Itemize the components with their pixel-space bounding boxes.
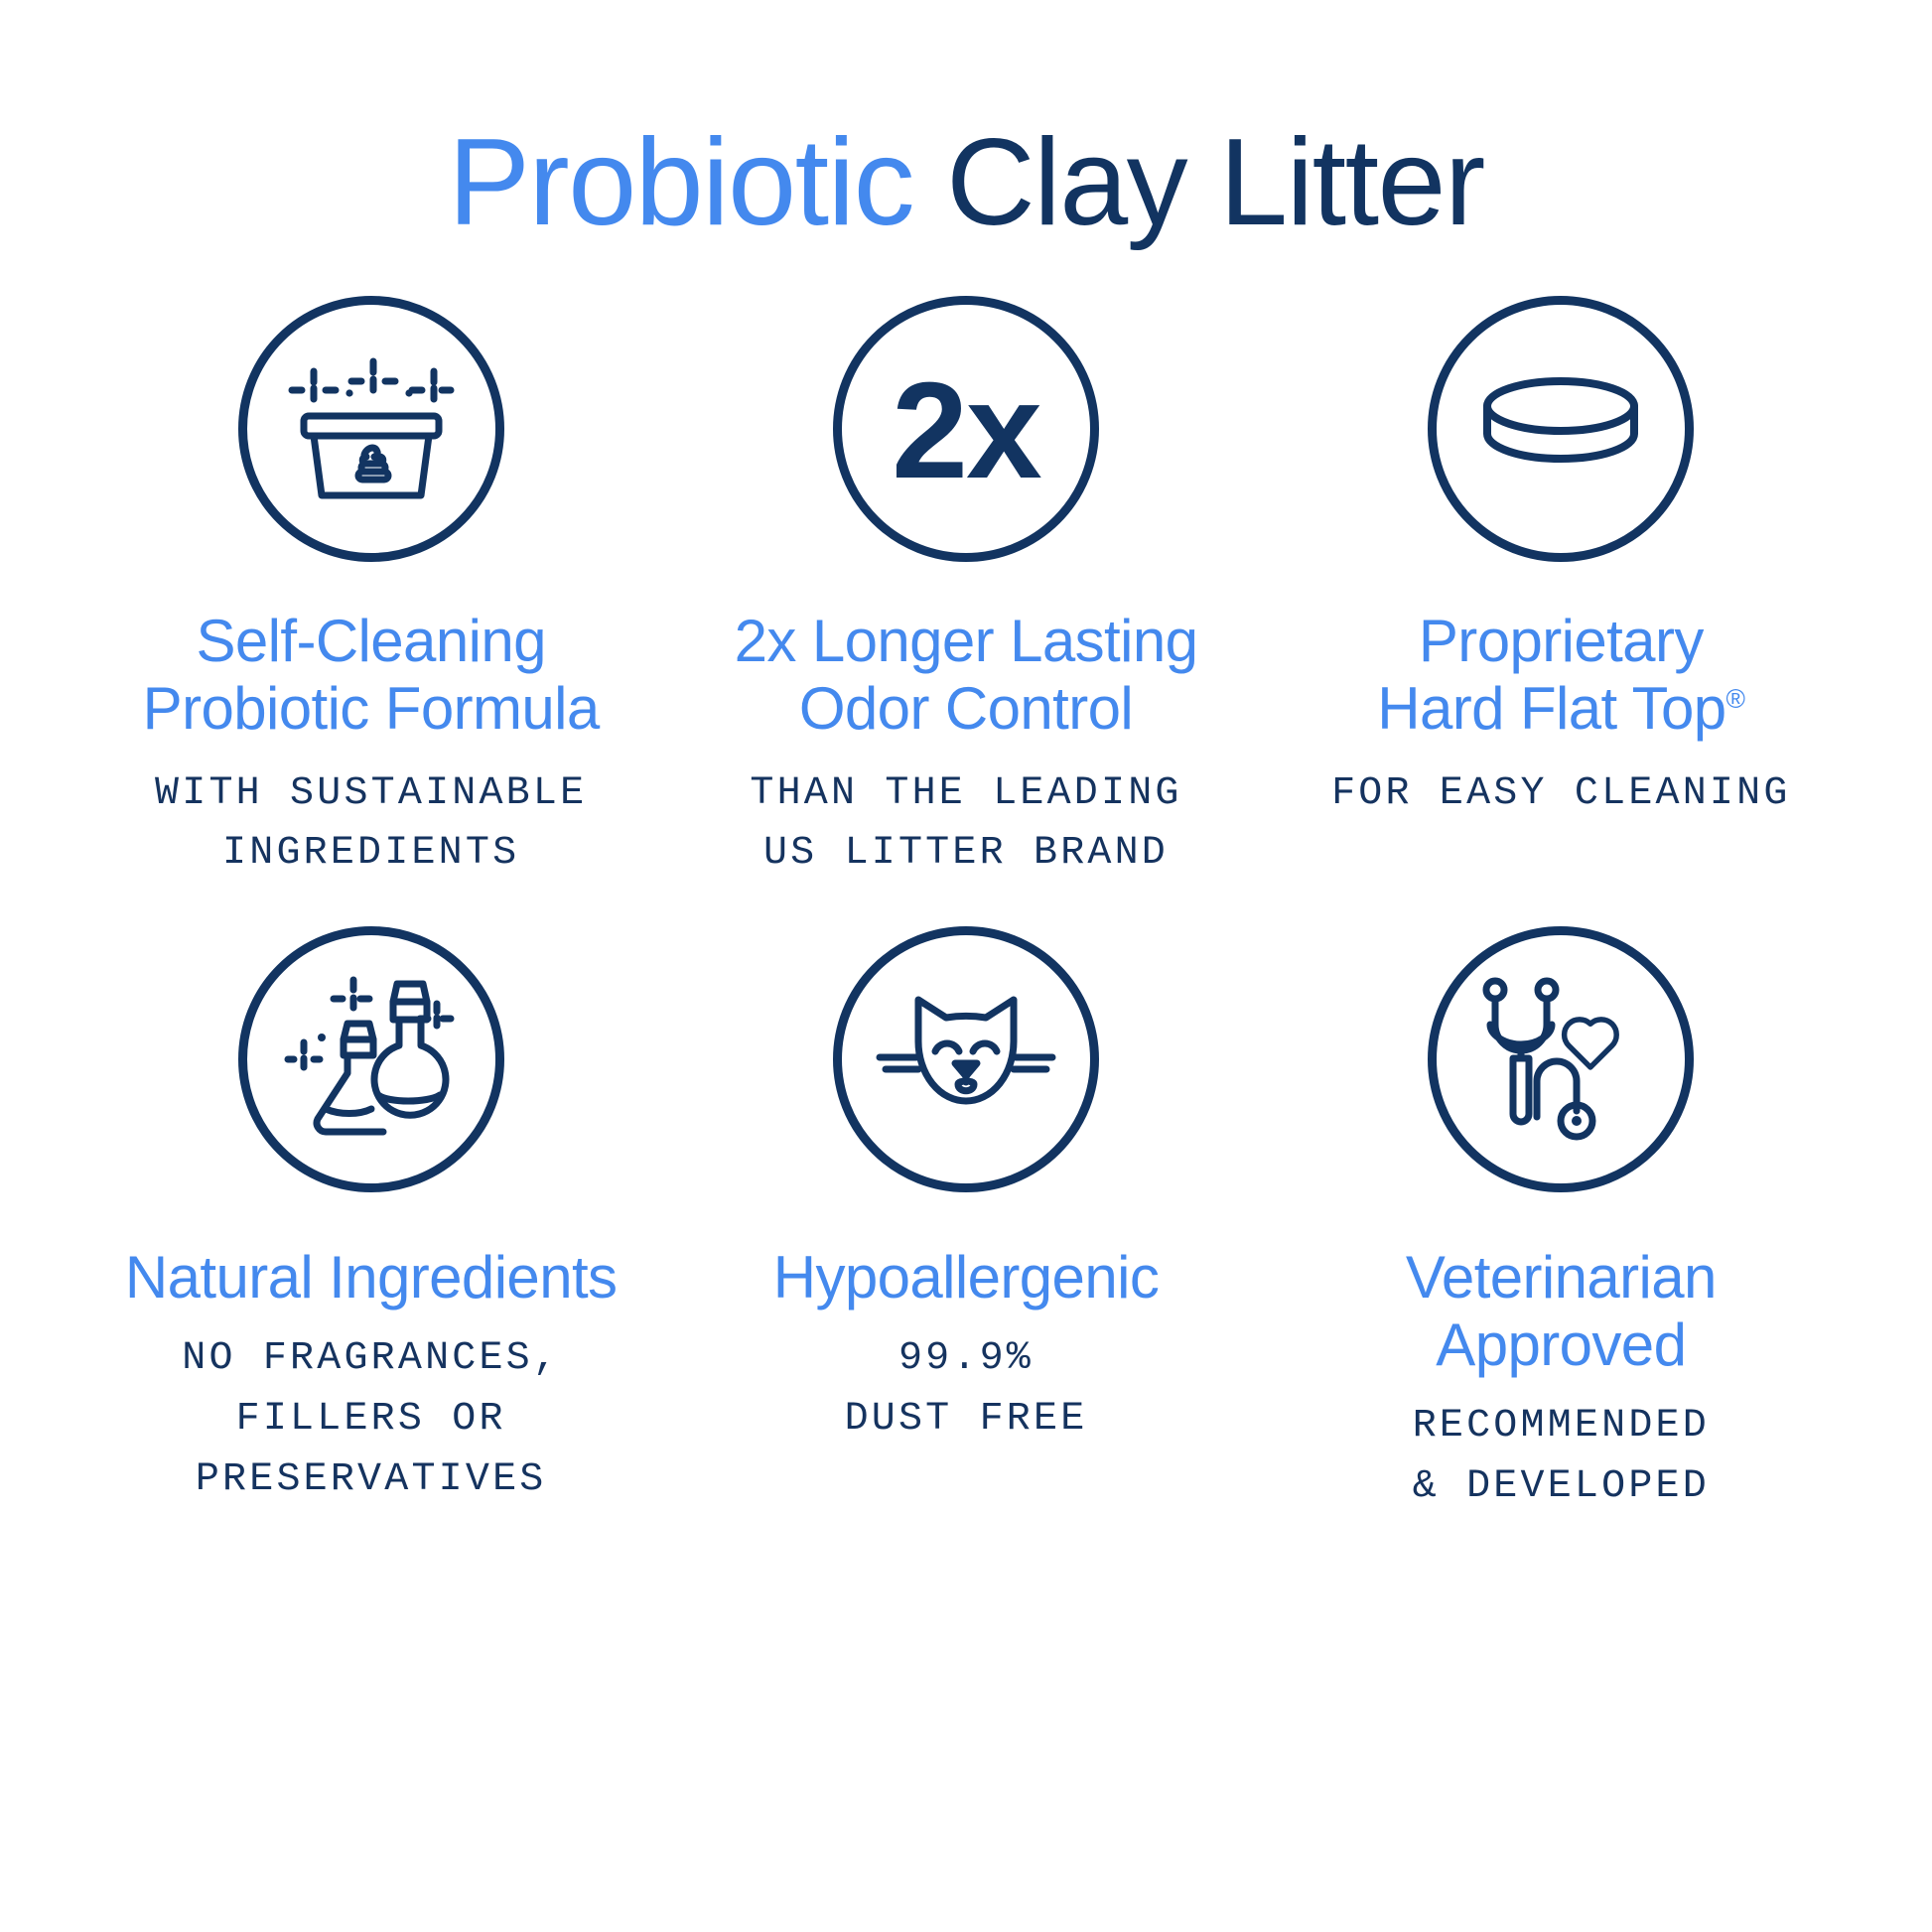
lab-flasks-sparkle-icon bbox=[288, 980, 455, 1139]
feature-card-hypoallergenic: Hypoallergenic 99.9% DUST FREE bbox=[668, 926, 1263, 1517]
feature-subline: FOR EASY CLEANING bbox=[1331, 764, 1790, 825]
feature-card-flat-top: Proprietary Hard Flat Top® FOR EASY CLEA… bbox=[1264, 296, 1859, 885]
feature-card-natural-ingredients: Natural Ingredients NO FRAGRANCES, FILLE… bbox=[73, 926, 668, 1517]
feature-subline: WITH SUSTAINABLE INGREDIENTS bbox=[155, 764, 587, 886]
feature-subline: RECOMMENDED & DEVELOPED bbox=[1413, 1397, 1710, 1518]
feature-headline: Veterinarian Approved bbox=[1406, 1244, 1717, 1379]
feature-card-vet-approved: Veterinarian Approved RECOMMENDED & DEVE… bbox=[1264, 926, 1859, 1517]
feature-card-odor-control: 2x 2x Longer Lasting Odor Control THAN T… bbox=[668, 296, 1263, 885]
registered-trademark-symbol: ® bbox=[1726, 684, 1745, 714]
page-title: Probiotic Clay Litter bbox=[0, 121, 1932, 244]
feature-card-self-cleaning: Self-Cleaning Probiotic Formula WITH SUS… bbox=[73, 296, 668, 885]
title-part-clay-litter: Clay Litter bbox=[946, 114, 1484, 251]
flat-top-disc-icon bbox=[1479, 374, 1642, 483]
title-part-probiotic: Probiotic bbox=[448, 114, 913, 251]
feature-subline: NO FRAGRANCES, FILLERS OR PRESERVATIVES bbox=[182, 1329, 560, 1510]
feature-icon-circle bbox=[238, 296, 504, 562]
stethoscope-heart-icon bbox=[1479, 978, 1642, 1141]
feature-headline: Hypoallergenic bbox=[773, 1244, 1160, 1311]
feature-headline: Self-Cleaning Probiotic Formula bbox=[143, 608, 600, 743]
feature-subline: 99.9% DUST FREE bbox=[845, 1329, 1088, 1450]
feature-icon-circle bbox=[1428, 926, 1694, 1192]
feature-icon-circle bbox=[238, 926, 504, 1192]
two-x-text-icon: 2x bbox=[892, 362, 1040, 499]
feature-icon-circle bbox=[1428, 296, 1694, 562]
happy-cat-face-icon bbox=[874, 990, 1058, 1129]
infographic-page: Probiotic Clay Litter bbox=[0, 0, 1932, 1932]
feature-headline: Proprietary Hard Flat Top® bbox=[1377, 608, 1744, 743]
litter-box-sparkle-icon bbox=[292, 354, 451, 503]
feature-headline: Natural Ingredients bbox=[125, 1244, 618, 1311]
feature-icon-circle bbox=[833, 926, 1099, 1192]
feature-subline: THAN THE LEADING US LITTER BRAND bbox=[750, 764, 1181, 886]
feature-headline: 2x Longer Lasting Odor Control bbox=[735, 608, 1198, 743]
feature-icon-circle: 2x bbox=[833, 296, 1099, 562]
feature-grid: Self-Cleaning Probiotic Formula WITH SUS… bbox=[0, 296, 1932, 1517]
